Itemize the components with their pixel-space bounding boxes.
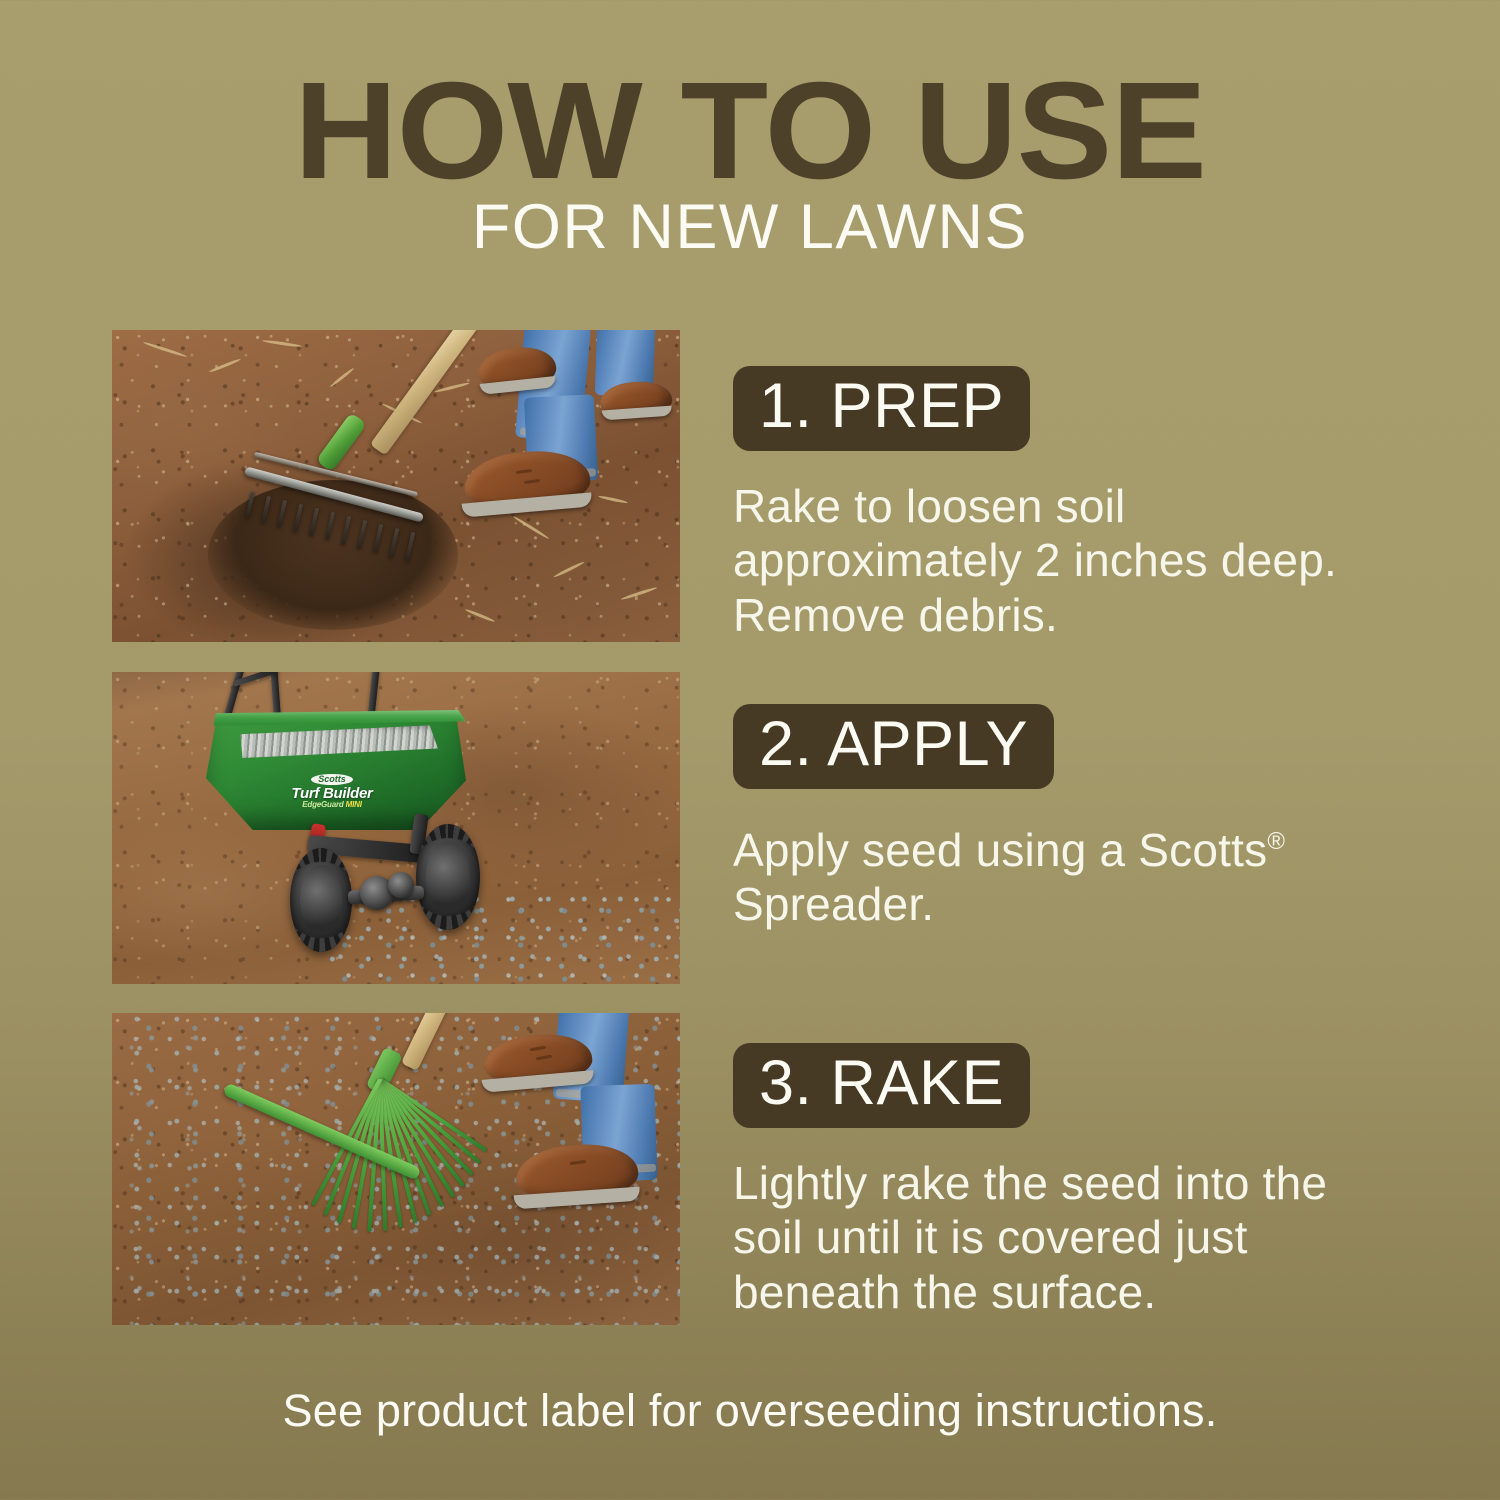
photo-apply-spreader: Scotts Turf Builder EdgeGuard MINI bbox=[112, 672, 680, 984]
edgeguard-mini-text: EdgeGuard MINI bbox=[264, 801, 400, 809]
step-row-rake: 3. RAKE Lightly rake the seed into the s… bbox=[112, 1013, 1392, 1325]
scotts-logo: Scotts bbox=[311, 774, 353, 785]
step-body-rake: Lightly rake the seed into the soil unti… bbox=[733, 1156, 1373, 1319]
photo-rake-seed bbox=[112, 1013, 680, 1325]
step-body-prep: Rake to loosen soil approximately 2 inch… bbox=[733, 479, 1373, 642]
step-badge-rake: 3. RAKE bbox=[733, 1043, 1030, 1128]
step-row-prep: 1. PREP Rake to loosen soil approximatel… bbox=[112, 330, 1392, 642]
apply-body-post: Spreader. bbox=[733, 878, 934, 930]
step-body-apply: Apply seed using a Scotts® Spreader. bbox=[733, 823, 1373, 932]
step-text-apply: 2. APPLY Apply seed using a Scotts® Spre… bbox=[733, 672, 1393, 984]
step-badge-apply: 2. APPLY bbox=[733, 704, 1054, 789]
photo-prep-rake bbox=[112, 330, 680, 642]
page-subtitle: FOR NEW LAWNS bbox=[0, 196, 1500, 259]
step-text-prep: 1. PREP Rake to loosen soil approximatel… bbox=[733, 330, 1393, 642]
infographic-page: HOW TO USE FOR NEW LAWNS bbox=[0, 0, 1500, 1500]
footer-note: See product label for overseeding instru… bbox=[0, 1388, 1500, 1433]
turf-builder-text: Turf Builder bbox=[264, 786, 400, 801]
registered-mark: ® bbox=[1267, 828, 1285, 855]
step-text-rake: 3. RAKE Lightly rake the seed into the s… bbox=[733, 1013, 1393, 1325]
apply-body-pre: Apply seed using a Scotts bbox=[733, 824, 1267, 876]
loosened-soil-pile bbox=[208, 480, 458, 630]
step-badge-prep: 1. PREP bbox=[733, 366, 1030, 451]
page-title: HOW TO USE bbox=[0, 62, 1500, 200]
step-row-apply: Scotts Turf Builder EdgeGuard MINI 2. AP… bbox=[112, 672, 1392, 984]
spreader-brand-label: Scotts Turf Builder EdgeGuard MINI bbox=[264, 770, 400, 809]
